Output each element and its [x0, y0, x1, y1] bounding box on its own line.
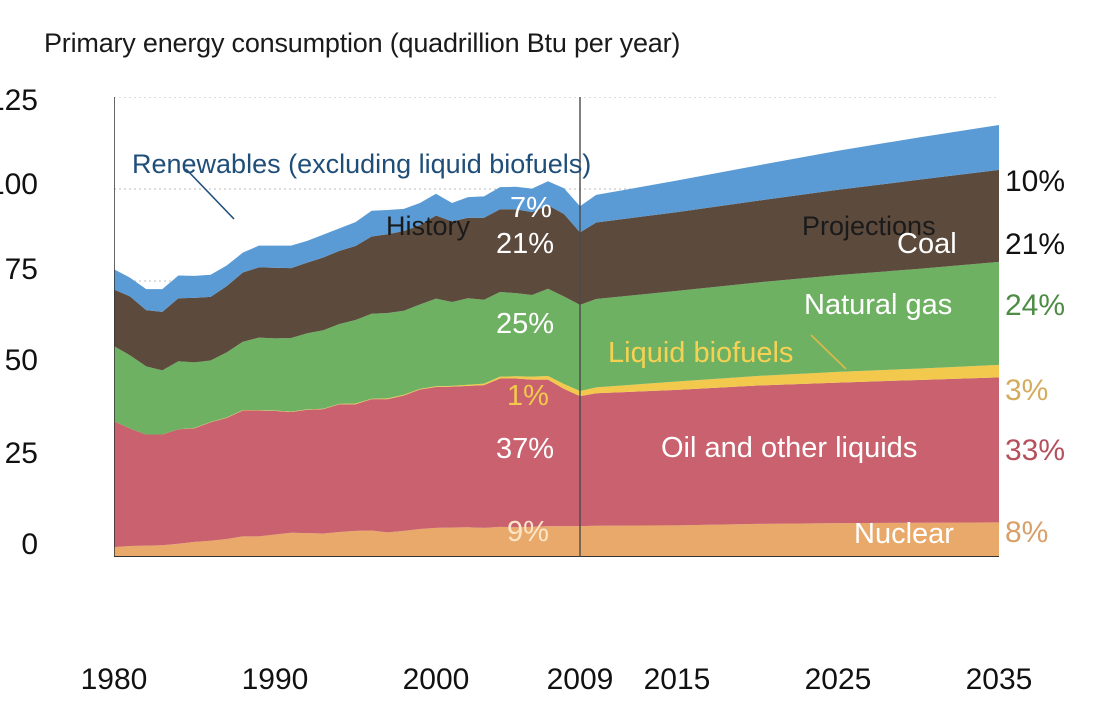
right-pct-renewables: 10% — [1005, 165, 1065, 199]
series-label-coal: Coal — [897, 228, 957, 261]
plot-area: 1980 1990 2000 2009 2015 2025 2035 Histo… — [114, 97, 999, 557]
center-pct-liquid-biofuels: 1% — [507, 380, 549, 413]
x-tick-2015: 2015 — [644, 663, 711, 697]
right-pct-liquid-biofuels: 3% — [1005, 374, 1048, 408]
center-pct-oil: 37% — [496, 433, 554, 466]
liquid-biofuels-callout-label: Liquid biofuels — [608, 337, 793, 370]
y-tick-0: 0 — [0, 528, 38, 562]
y-tick-125: 125 — [0, 84, 38, 118]
y-tick-25: 25 — [0, 437, 38, 471]
series-label-natural-gas: Natural gas — [804, 289, 952, 322]
right-pct-oil: 33% — [1005, 434, 1065, 468]
y-tick-100: 100 — [0, 168, 38, 202]
series-label-oil: Oil and other liquids — [661, 432, 917, 465]
right-pct-coal: 21% — [1005, 228, 1065, 262]
history-label: History — [386, 211, 470, 242]
center-pct-renewables: 7% — [510, 192, 552, 225]
renewables-callout-label: Renewables (excluding liquid biofuels) — [132, 149, 591, 180]
y-tick-75: 75 — [0, 253, 38, 287]
x-tick-1980: 1980 — [81, 663, 148, 697]
center-pct-nuclear: 9% — [507, 516, 549, 549]
x-tick-1990: 1990 — [242, 663, 309, 697]
y-tick-50: 50 — [0, 344, 38, 378]
area-series-group — [114, 125, 999, 557]
center-pct-coal: 21% — [496, 228, 554, 261]
x-tick-2009: 2009 — [547, 663, 614, 697]
chart-subtitle: Primary energy consumption (quadrillion … — [44, 28, 680, 59]
center-pct-natural-gas: 25% — [496, 308, 554, 341]
energy-consumption-chart: Primary energy consumption (quadrillion … — [0, 0, 1106, 717]
x-tick-2035: 2035 — [966, 663, 1033, 697]
right-pct-nuclear: 8% — [1005, 516, 1048, 550]
x-tick-2025: 2025 — [805, 663, 872, 697]
x-tick-2000: 2000 — [403, 663, 470, 697]
series-label-nuclear: Nuclear — [854, 518, 954, 551]
right-pct-natural-gas: 24% — [1005, 289, 1065, 323]
